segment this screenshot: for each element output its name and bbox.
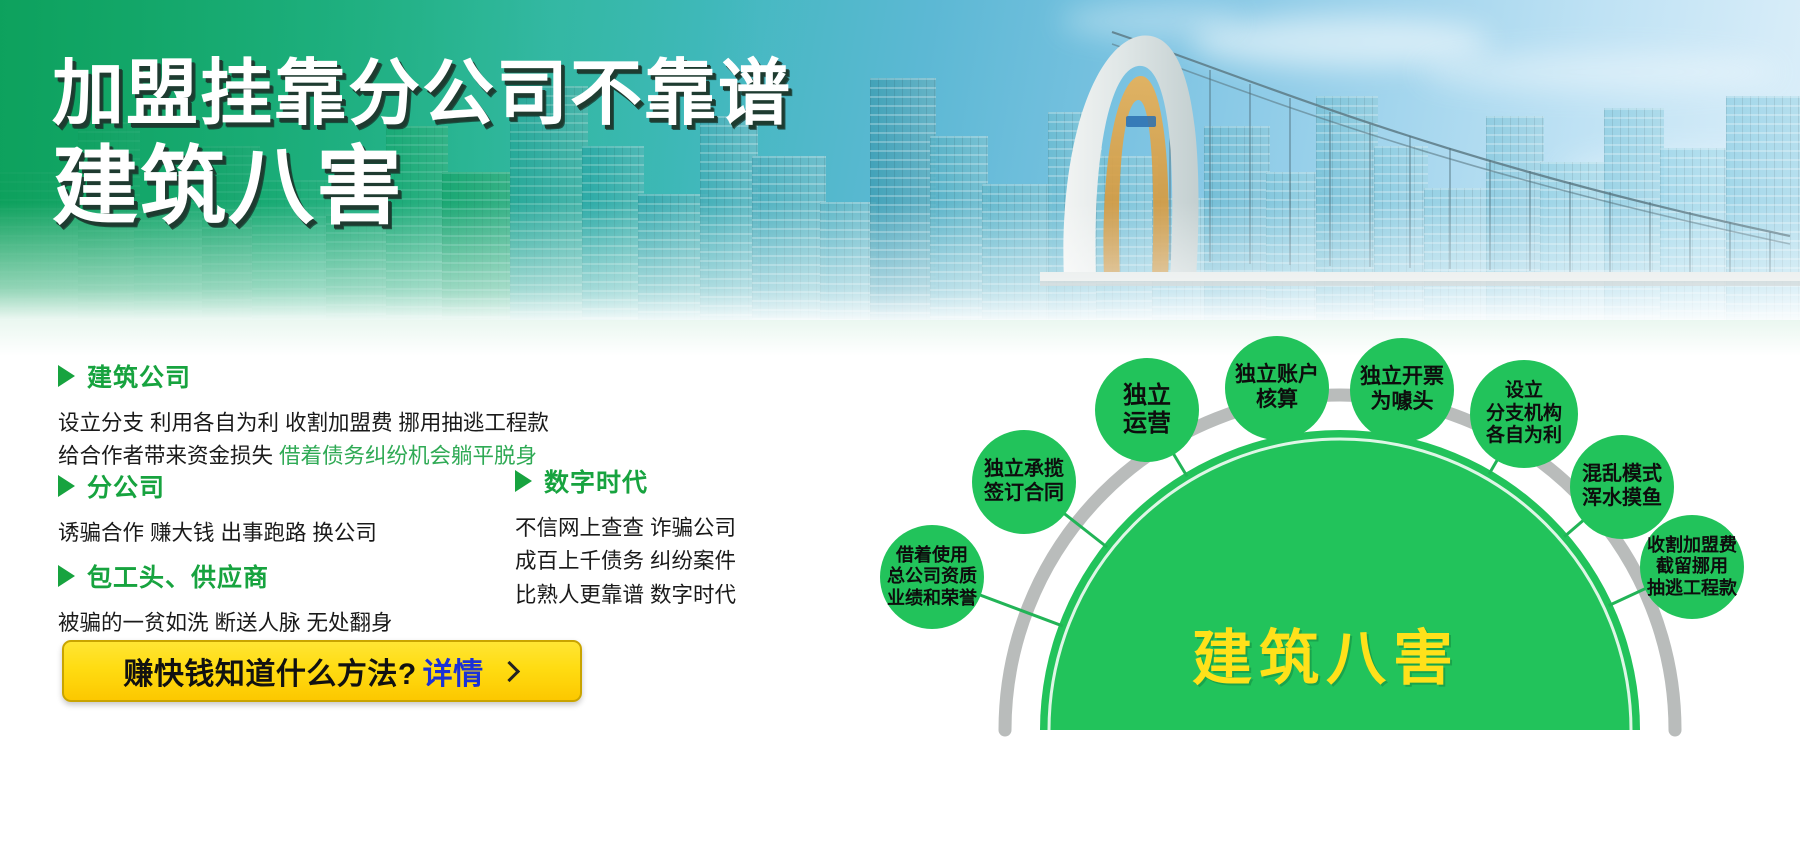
- body-text: 被骗的一贫如洗 断送人脉 无处翻身: [58, 611, 392, 635]
- body-text: 给合作者带来资金损失: [58, 444, 279, 468]
- section-4: 数字时代不信网上查查 诈骗公司成百上千债务 纠纷案件比熟人更靠谱 数字时代: [515, 463, 736, 612]
- bubble-chaotic-model[interactable]: 混乱模式浑水摸鱼: [1570, 435, 1674, 539]
- body-text: 成百上千债务 纠纷案件: [515, 549, 736, 573]
- body-text: 诱骗合作 赚大钱 出事跑路 换公司: [58, 521, 377, 545]
- section-body-line: 诱骗合作 赚大钱 出事跑路 换公司: [58, 517, 377, 550]
- cta-link-label: 详情: [423, 649, 484, 693]
- bubble-label-line: 设立: [1486, 380, 1562, 402]
- body-text: 不信网上查查 诈骗公司: [515, 516, 736, 540]
- bubble-label-line: 借着使用: [887, 545, 977, 566]
- bubble-label: 设立分支机构各自为利: [1486, 380, 1562, 447]
- section-title: 包工头、供应商: [87, 558, 269, 594]
- details-cta-button[interactable]: 赚快钱知道什么方法? 详情: [62, 640, 582, 702]
- section-heading: 分公司: [58, 468, 377, 504]
- bubble-label-line: 签订合同: [984, 482, 1064, 506]
- section-body: 不信网上查查 诈骗公司成百上千债务 纠纷案件比熟人更靠谱 数字时代: [515, 512, 736, 612]
- poster-root: 加盟挂靠分公司不靠谱 建筑八害 建筑公司设立分支 利用各自为利 收割加盟费 挪用…: [0, 0, 1800, 844]
- triangle-bullet-icon: [58, 475, 75, 497]
- section-2: 分公司诱骗合作 赚大钱 出事跑路 换公司: [58, 468, 377, 550]
- section-body-line: 成百上千债务 纠纷案件: [515, 545, 736, 578]
- bubble-use-parent-qualification[interactable]: 借着使用总公司资质业绩和荣誉: [880, 525, 984, 629]
- section-title: 数字时代: [544, 463, 648, 499]
- bubble-label-line: 抽逃工程款: [1647, 578, 1737, 599]
- chevron-right-icon: [499, 660, 520, 681]
- bubble-independent-accounting[interactable]: 独立账户核算: [1225, 336, 1329, 440]
- triangle-bullet-icon: [58, 565, 75, 587]
- bubble-label-line: 独立承揽: [984, 458, 1064, 482]
- dome-center-label: 建筑八害: [1192, 610, 1460, 697]
- bubble-invoicing-gimmick[interactable]: 独立开票为噱头: [1350, 338, 1454, 442]
- bubble-label: 独立承揽签订合同: [984, 458, 1064, 505]
- bubble-label-line: 收割加盟费: [1647, 535, 1737, 556]
- section-body: 设立分支 利用各自为利 收割加盟费 挪用抽逃工程款给合作者带来资金损失 借着债务…: [58, 407, 549, 474]
- bubble-label: 收割加盟费截留挪用抽逃工程款: [1647, 535, 1737, 599]
- section-body-line: 被骗的一贫如洗 断送人脉 无处翻身: [58, 607, 392, 640]
- cta-main-label: 赚快钱知道什么方法?: [123, 649, 416, 693]
- bubble-label: 借着使用总公司资质业绩和荣誉: [887, 545, 977, 609]
- bubble-independent-contracting[interactable]: 独立承揽签订合同: [972, 430, 1076, 534]
- bubble-branch-self-interest[interactable]: 设立分支机构各自为利: [1470, 360, 1578, 468]
- bubble-label-line: 浑水摸鱼: [1582, 487, 1662, 511]
- section-body-line: 比熟人更靠谱 数字时代: [515, 579, 736, 612]
- content-sections: 建筑公司设立分支 利用各自为利 收割加盟费 挪用抽逃工程款给合作者带来资金损失 …: [0, 368, 900, 844]
- bubble-label: 独立运营: [1123, 382, 1171, 439]
- bubble-label-line: 运营: [1123, 410, 1171, 438]
- triangle-bullet-icon: [515, 470, 532, 492]
- section-title: 建筑公司: [87, 358, 191, 394]
- bubble-label-line: 总公司资质: [887, 566, 977, 587]
- bubble-label-line: 分支机构: [1486, 403, 1562, 425]
- triangle-bullet-icon: [58, 365, 75, 387]
- section-heading: 建筑公司: [58, 358, 549, 394]
- bubble-label: 独立开票为噱头: [1360, 365, 1444, 415]
- body-text: 设立分支 利用各自为利 收割加盟费 挪用抽逃工程款: [58, 411, 549, 435]
- bubble-label: 独立账户核算: [1235, 363, 1319, 413]
- section-body: 被骗的一贫如洗 断送人脉 无处翻身: [58, 607, 392, 640]
- bubble-label-line: 独立账户: [1235, 363, 1319, 388]
- section-body-line: 设立分支 利用各自为利 收割加盟费 挪用抽逃工程款: [58, 407, 549, 440]
- eight-harms-diagram: 建筑八害 借着使用总公司资质业绩和荣誉独立承揽签订合同独立运营独立账户核算独立开…: [880, 330, 1800, 844]
- bubble-label-line: 各自为利: [1486, 425, 1562, 447]
- hero-title-line-2: 建筑八害: [52, 144, 792, 230]
- bubble-label-line: 核算: [1235, 388, 1319, 413]
- bubble-label-line: 独立开票: [1360, 365, 1444, 390]
- body-text-highlight: 借着债务纠纷机会躺平脱身: [279, 444, 537, 468]
- section-1: 建筑公司设立分支 利用各自为利 收割加盟费 挪用抽逃工程款给合作者带来资金损失 …: [58, 358, 549, 474]
- hero-title: 加盟挂靠分公司不靠谱 建筑八害: [52, 58, 792, 230]
- hero-banner: 加盟挂靠分公司不靠谱 建筑八害: [0, 0, 1800, 368]
- body-text: 比熟人更靠谱 数字时代: [515, 583, 736, 607]
- bubble-franchise-fee-diversion[interactable]: 收割加盟费截留挪用抽逃工程款: [1640, 515, 1744, 619]
- bubble-label-line: 截留挪用: [1647, 556, 1737, 577]
- bubble-label-line: 混乱模式: [1582, 463, 1662, 487]
- section-3: 包工头、供应商被骗的一贫如洗 断送人脉 无处翻身: [58, 558, 392, 640]
- bubble-label: 混乱模式浑水摸鱼: [1582, 463, 1662, 510]
- section-heading: 数字时代: [515, 463, 736, 499]
- hero-title-line-1: 加盟挂靠分公司不靠谱: [52, 58, 792, 130]
- section-body-line: 不信网上查查 诈骗公司: [515, 512, 736, 545]
- bubble-label-line: 独立: [1123, 382, 1171, 410]
- section-title: 分公司: [87, 468, 165, 504]
- bubble-label-line: 为噱头: [1360, 390, 1444, 415]
- section-heading: 包工头、供应商: [58, 558, 392, 594]
- bubble-label-line: 业绩和荣誉: [887, 588, 977, 609]
- section-body: 诱骗合作 赚大钱 出事跑路 换公司: [58, 517, 377, 550]
- bubble-independent-operation[interactable]: 独立运营: [1095, 358, 1199, 462]
